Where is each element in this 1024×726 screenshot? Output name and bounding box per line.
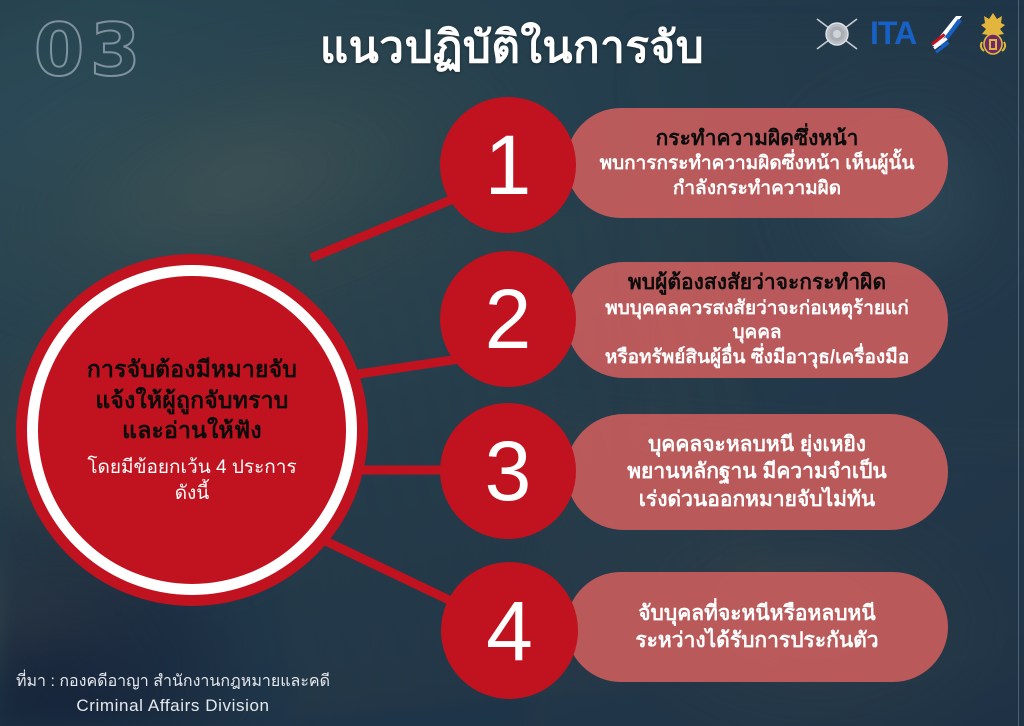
item-1-body-line-2: กำลังกระทำความผิด: [600, 177, 915, 202]
central-heading-line-1: การจับต้องมีหมายจับ: [87, 354, 297, 384]
item-2-body-line-1: พบบุคคลควรสงสัยว่าจะก่อเหตุร้ายแก่บุคคล: [584, 297, 930, 346]
central-heading-line-2: แจ้งให้ผู้ถูกจับทราบ: [87, 385, 297, 415]
item-3-body-line-1: บุคคลจะหลบหนี ยุ่งเหยิง: [627, 431, 887, 458]
central-heading-line-3: และอ่านให้ฟัง: [87, 415, 297, 445]
connector-line-4: [292, 525, 470, 610]
item-1-number-badge: 1: [440, 97, 576, 233]
item-3-body-line-2: พยานหลักฐาน มีความจำเป็น: [627, 458, 887, 485]
item-3-pill: บุคคลจะหลบหนี ยุ่งเหยิง พยานหลักฐาน มีคว…: [566, 414, 948, 530]
item-2-pill: พบผู้ต้องสงสัยว่าจะกระทำผิด พบบุคคลควรสง…: [566, 262, 948, 378]
item-3-body: บุคคลจะหลบหนี ยุ่งเหยิง พยานหลักฐาน มีคว…: [627, 431, 887, 513]
central-subtext-line-1: โดยมีข้อยกเว้น 4 ประการ: [87, 455, 296, 480]
item-1-title: กระทำความผิดซึ่งหน้า: [656, 125, 859, 152]
item-4-number-badge: 4: [441, 562, 578, 699]
source-footer-thai: ที่มา : กองคดีอาญา สำนักงานกฎหมายและคดี: [8, 671, 338, 693]
central-heading: การจับต้องมีหมายจับ แจ้งให้ผู้ถูกจับทราบ…: [87, 354, 297, 445]
item-2-body-line-2: หรือทรัพย์สินผู้อื่น ซึ่งมีอาวุธ/เครื่อง…: [584, 346, 930, 371]
connector-line-1: [311, 192, 470, 258]
source-footer: ที่มา : กองคดีอาญา สำนักงานกฎหมายและคดี …: [8, 671, 338, 718]
slide-canvas: 03 แนวปฏิบัติในการจับ ITA: [0, 0, 1024, 726]
item-3-body-line-3: เร่งด่วนออกหมายจับไม่ทัน: [627, 486, 887, 513]
item-2-number-badge: 2: [440, 251, 576, 387]
item-4-body-line-1: จับบุคลที่จะหนีหรือหลบหนี: [635, 600, 878, 627]
central-subtext-line-2: ดังนี้: [87, 481, 296, 506]
item-4-body-line-2: ระหว่างได้รับการประกันตัว: [635, 627, 878, 654]
item-4-body: จับบุคลที่จะหนีหรือหลบหนี ระหว่างได้รับก…: [635, 600, 878, 655]
central-subtext: โดยมีข้อยกเว้น 4 ประการ ดังนี้: [87, 455, 296, 505]
item-1-body-line-1: พบการกระทำความผิดซึ่งหน้า เห็นผู้นั้น: [600, 152, 915, 177]
source-footer-english: Criminal Affairs Division: [8, 695, 338, 718]
item-2-body: พบบุคคลควรสงสัยว่าจะก่อเหตุร้ายแก่บุคคล …: [584, 297, 930, 371]
item-3-number-badge: 3: [440, 403, 576, 539]
item-4-pill: จับบุคลที่จะหนีหรือหลบหนี ระหว่างได้รับก…: [566, 572, 948, 682]
item-1-body: พบการกระทำความผิดซึ่งหน้า เห็นผู้นั้น กำ…: [600, 152, 915, 201]
item-1-pill: กระทำความผิดซึ่งหน้า พบการกระทำความผิดซึ…: [566, 108, 948, 218]
item-2-title: พบผู้ต้องสงสัยว่าจะกระทำผิด: [628, 269, 886, 296]
central-statement-circle: การจับต้องมีหมายจับ แจ้งให้ผู้ถูกจับทราบ…: [27, 265, 357, 595]
